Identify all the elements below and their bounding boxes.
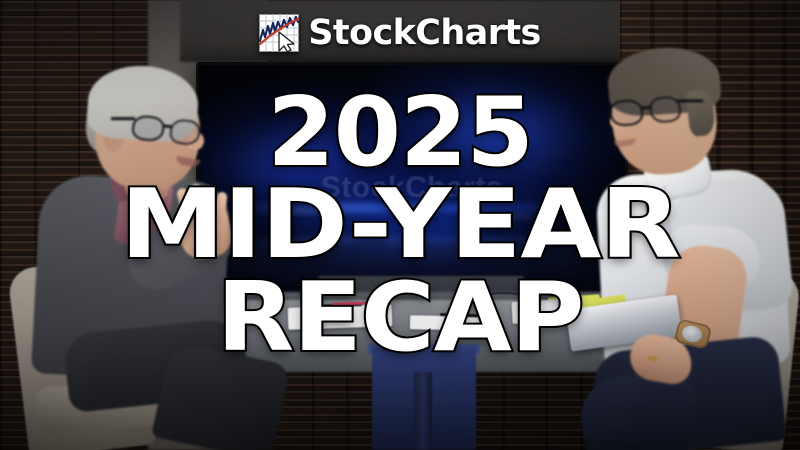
glasses-lens: [131, 114, 165, 142]
brand-lockup: StockCharts: [0, 14, 800, 52]
glasses-lens: [169, 118, 201, 146]
lapel-mic-icon: [645, 195, 656, 211]
glasses-lens: [609, 99, 644, 128]
brand-name-text: StockCharts: [308, 16, 540, 51]
speaker-left-finger: [204, 186, 216, 223]
stock-chart-cursor-icon: [259, 14, 299, 52]
desk-paper: [288, 304, 393, 330]
video-thumbnail: StockCharts: [0, 0, 800, 450]
glasses-temple: [677, 99, 703, 102]
glasses-temple: [111, 117, 135, 120]
desk-paper: [410, 315, 494, 330]
tv-vignette: [199, 65, 625, 311]
tv-screen-content: StockCharts: [199, 65, 625, 311]
desk-leg: [414, 372, 432, 450]
